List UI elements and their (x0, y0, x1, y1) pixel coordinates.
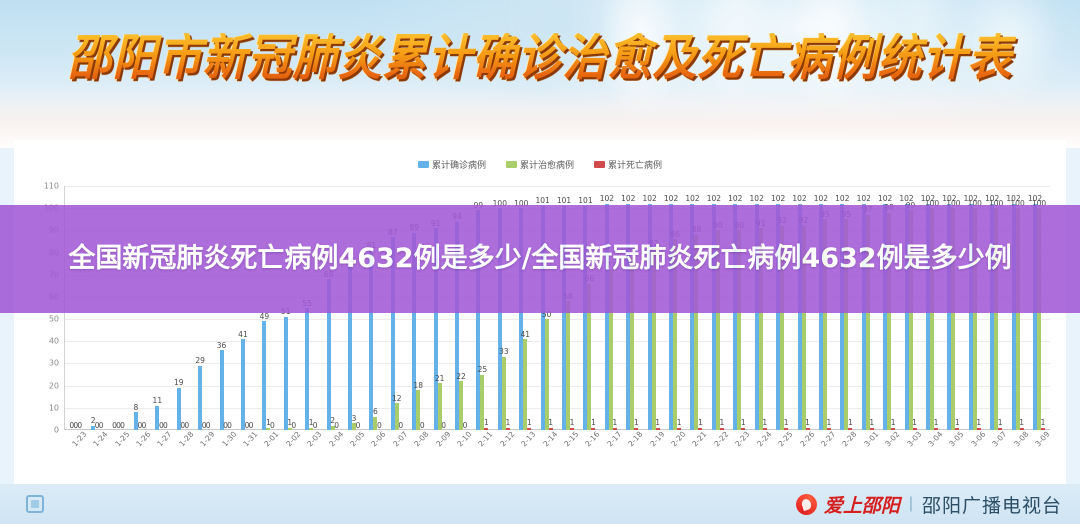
x-tick-label: 3-08 (1012, 430, 1030, 449)
x-tick-label: 2-20 (669, 430, 687, 449)
x-tick: 3-05 (943, 433, 964, 473)
bar-value-label: 0 (334, 422, 339, 430)
bar-value-label: 102 (835, 195, 849, 203)
x-tick: 1-29 (193, 433, 214, 473)
bar-value-label: 1 (848, 419, 853, 427)
bar-cured: 50 (545, 319, 549, 430)
x-tick: 2-12 (493, 433, 514, 473)
x-tick: 2-19 (643, 433, 664, 473)
bar-value-label: 0 (120, 422, 125, 430)
x-tick-label: 2-06 (370, 430, 388, 449)
bar-value-label: 1 (720, 419, 725, 427)
x-tick-label: 1-31 (241, 430, 259, 449)
bar-value-label: 19 (174, 379, 184, 387)
y-tick-label: 40 (49, 337, 59, 346)
bar-value-label: 1 (998, 419, 1003, 427)
bar-value-label: 1 (655, 419, 660, 427)
x-tick: 2-27 (814, 433, 835, 473)
bar-cured: 41 (523, 339, 527, 430)
bar-value-label: 0 (356, 422, 361, 430)
bar-value-label: 36 (217, 342, 227, 350)
x-tick: 3-07 (985, 433, 1006, 473)
bar-value-label: 102 (664, 195, 678, 203)
x-tick-label: 2-25 (776, 430, 794, 449)
bar-value-label: 1 (527, 419, 532, 427)
x-tick-label: 2-14 (541, 430, 559, 449)
legend-item-1: 累计治愈病例 (506, 158, 574, 171)
legend-item-0: 累计确诊病例 (418, 158, 486, 171)
legend-label: 累计确诊病例 (432, 158, 486, 171)
overlay-text: 全国新冠肺炎死亡病例4632例是多少/全国新冠肺炎死亡病例4632例是多少例 (60, 242, 1020, 277)
bar-value-label: 49 (260, 313, 270, 321)
chart-legend: 累计确诊病例累计治愈病例累计死亡病例 (14, 158, 1066, 171)
bar-value-label: 1 (591, 419, 596, 427)
brand-primary-label: 爱上邵阳 (824, 491, 900, 518)
bar-value-label: 1 (505, 419, 510, 427)
chart-card: 累计确诊病例累计治愈病例累计死亡病例 010203040506070809010… (14, 140, 1066, 488)
bar-value-label: 1 (891, 419, 896, 427)
x-axis: 1-231-241-251-261-271-281-291-301-312-01… (65, 433, 1050, 473)
bar-value-label: 102 (643, 195, 657, 203)
app-logo-icon (26, 495, 44, 513)
x-tick-label: 1-30 (220, 430, 238, 449)
bar-value-label: 102 (857, 195, 871, 203)
x-tick-label: 2-10 (455, 430, 473, 449)
x-tick: 1-24 (86, 433, 107, 473)
bar-value-label: 1 (955, 419, 960, 427)
bar-value-label: 1 (869, 419, 874, 427)
x-tick: 2-18 (622, 433, 643, 473)
bar-value-label: 0 (441, 422, 446, 430)
bar-value-label: 1 (677, 419, 682, 427)
bar-value-label: 21 (435, 375, 445, 383)
x-tick-label: 3-06 (969, 430, 987, 449)
x-tick: 2-20 (664, 433, 685, 473)
brand-separator: | (909, 495, 913, 513)
bar-value-label: 1 (741, 419, 746, 427)
bar-value-label: 0 (377, 422, 382, 430)
bar-value-label: 33 (499, 348, 509, 356)
bar-value-label: 102 (771, 195, 785, 203)
bar-value-label: 12 (392, 395, 402, 403)
header-banner: 邵阳市新冠肺炎累计确诊治愈及死亡病例统计表 (0, 0, 1080, 148)
bar-value-label: 1 (827, 419, 832, 427)
bar-value-label: 1 (698, 419, 703, 427)
x-tick: 2-02 (279, 433, 300, 473)
x-tick: 2-06 (365, 433, 386, 473)
x-tick: 2-15 (557, 433, 578, 473)
x-tick-label: 3-01 (862, 430, 880, 449)
legend-label: 累计死亡病例 (608, 158, 662, 171)
x-tick-label: 3-05 (948, 430, 966, 449)
x-tick: 2-21 (686, 433, 707, 473)
x-tick: 2-23 (729, 433, 750, 473)
bar-value-label: 102 (728, 195, 742, 203)
y-tick-label: 0 (54, 426, 59, 435)
legend-item-2: 累计死亡病例 (594, 158, 662, 171)
x-tick: 2-28 (836, 433, 857, 473)
y-tick-label: 110 (44, 182, 59, 191)
x-tick: 2-04 (322, 433, 343, 473)
bar-value-label: 102 (750, 195, 764, 203)
bar-value-label: 1 (784, 419, 789, 427)
bar-value-label: 18 (413, 382, 423, 390)
bar-value-label: 8 (134, 404, 139, 412)
bar-value-label: 101 (557, 197, 571, 205)
x-tick-label: 2-11 (477, 430, 495, 449)
x-tick-label: 2-23 (734, 430, 752, 449)
x-tick-label: 1-29 (198, 430, 216, 449)
x-tick: 1-26 (129, 433, 150, 473)
x-tick: 1-30 (215, 433, 236, 473)
bar-confirmed: 49 (262, 321, 266, 430)
broadcaster-brand: 爱上邵阳 | 邵阳广播电视台 (796, 491, 1062, 518)
x-tick: 2-11 (472, 433, 493, 473)
x-tick: 2-26 (793, 433, 814, 473)
x-tick: 3-06 (964, 433, 985, 473)
x-tick: 1-27 (151, 433, 172, 473)
bar-value-label: 101 (578, 197, 592, 205)
x-tick: 2-22 (707, 433, 728, 473)
bar-value-label: 1 (805, 419, 810, 427)
bar-value-label: 102 (878, 195, 892, 203)
x-tick: 3-09 (1028, 433, 1049, 473)
y-tick-label: 10 (49, 403, 59, 412)
x-tick-label: 1-28 (177, 430, 195, 449)
footer-bar: 爱上邵阳 | 邵阳广播电视台 (0, 484, 1080, 524)
bar-value-label: 6 (373, 408, 378, 416)
x-tick-label: 2-24 (755, 430, 773, 449)
legend-swatch-icon (506, 161, 517, 168)
bar-value-label: 1 (612, 419, 617, 427)
bar-value-label: 0 (163, 422, 168, 430)
bar-value-label: 0 (77, 422, 82, 430)
bar-value-label: 41 (238, 331, 248, 339)
x-tick-label: 2-03 (305, 430, 323, 449)
x-tick: 2-07 (386, 433, 407, 473)
bar-value-label: 0 (398, 422, 403, 430)
x-tick: 2-09 (429, 433, 450, 473)
bar-value-label: 102 (792, 195, 806, 203)
bar-value-label: 0 (291, 422, 296, 430)
x-tick-label: 2-17 (605, 430, 623, 449)
x-tick: 1-31 (236, 433, 257, 473)
x-tick: 2-16 (579, 433, 600, 473)
brand-secondary-label: 邵阳广播电视台 (922, 491, 1062, 518)
x-tick: 3-03 (900, 433, 921, 473)
x-tick: 2-03 (300, 433, 321, 473)
header-glow (0, 88, 1080, 148)
y-tick-label: 30 (49, 359, 59, 368)
x-tick-label: 2-04 (327, 430, 345, 449)
x-tick: 2-05 (343, 433, 364, 473)
bar-value-label: 102 (814, 195, 828, 203)
x-tick: 1-25 (108, 433, 129, 473)
bar-value-label: 0 (206, 422, 211, 430)
x-tick-label: 2-01 (263, 430, 281, 449)
bar-value-label: 102 (600, 195, 614, 203)
page-title: 邵阳市新冠肺炎累计确诊治愈及死亡病例统计表 (0, 33, 1080, 85)
bar-value-label: 1 (762, 419, 767, 427)
footer-left-logo (0, 484, 70, 524)
x-tick-label: 1-24 (91, 430, 109, 449)
bar-value-label: 0 (249, 422, 254, 430)
x-tick-label: 2-05 (348, 430, 366, 449)
x-tick-label: 2-26 (798, 430, 816, 449)
legend-label: 累计治愈病例 (520, 158, 574, 171)
x-tick: 3-08 (1007, 433, 1028, 473)
x-tick-label: 2-12 (498, 430, 516, 449)
bar-value-label: 1 (634, 419, 639, 427)
bar-value-label: 1 (548, 419, 553, 427)
x-tick-label: 3-09 (1033, 430, 1051, 449)
x-tick: 2-24 (750, 433, 771, 473)
bar-value-label: 102 (707, 195, 721, 203)
x-tick-label: 2-07 (391, 430, 409, 449)
bar-value-label: 0 (463, 422, 468, 430)
bar-value-label: 22 (456, 373, 466, 381)
bar-confirmed: 41 (241, 339, 245, 430)
x-tick-label: 2-02 (284, 430, 302, 449)
swirl-logo-icon (796, 494, 817, 515)
x-tick: 2-08 (408, 433, 429, 473)
bar-value-label: 1 (570, 419, 575, 427)
x-tick-label: 2-18 (627, 430, 645, 449)
bar-value-label: 102 (621, 195, 635, 203)
x-tick: 3-01 (857, 433, 878, 473)
x-tick: 2-25 (771, 433, 792, 473)
bar-value-label: 0 (227, 422, 232, 430)
bar-value-label: 1 (1019, 419, 1024, 427)
x-tick: 2-10 (450, 433, 471, 473)
bar-value-label: 0 (142, 422, 147, 430)
overlay-banner: 全国新冠肺炎死亡病例4632例是多少/全国新冠肺炎死亡病例4632例是多少例 (0, 205, 1080, 313)
bar-value-label: 101 (535, 197, 549, 205)
x-tick: 2-14 (536, 433, 557, 473)
bar-value-label: 1 (484, 419, 489, 427)
bar-cured: 58 (566, 301, 570, 430)
x-tick: 1-28 (172, 433, 193, 473)
bar-value-label: 0 (270, 422, 275, 430)
x-tick-label: 2-28 (841, 430, 859, 449)
x-tick: 1-23 (65, 433, 86, 473)
x-tick: 2-01 (258, 433, 279, 473)
legend-swatch-icon (594, 161, 605, 168)
infographic-page: 邵阳市新冠肺炎累计确诊治愈及死亡病例统计表 累计确诊病例累计治愈病例累计死亡病例… (0, 0, 1080, 524)
x-tick: 3-04 (921, 433, 942, 473)
x-tick: 3-02 (878, 433, 899, 473)
bar-value-label: 1 (912, 419, 917, 427)
x-tick-label: 1-27 (156, 430, 174, 449)
x-tick-label: 3-07 (990, 430, 1008, 449)
x-tick-label: 3-04 (926, 430, 944, 449)
bar-value-label: 41 (520, 331, 530, 339)
bar-value-label: 1 (976, 419, 981, 427)
x-tick-label: 3-02 (883, 430, 901, 449)
x-tick-label: 2-22 (712, 430, 730, 449)
y-tick-label: 50 (49, 315, 59, 324)
bar-value-label: 102 (685, 195, 699, 203)
x-tick-label: 2-09 (434, 430, 452, 449)
x-tick-label: 2-19 (648, 430, 666, 449)
bar-confirmed: 51 (284, 317, 288, 430)
x-tick-label: 2-21 (691, 430, 709, 449)
x-tick-label: 1-23 (70, 430, 88, 449)
x-tick-label: 3-03 (905, 430, 923, 449)
x-tick-label: 2-13 (520, 430, 538, 449)
bar-value-label: 0 (420, 422, 425, 430)
bar-value-label: 1 (1041, 419, 1046, 427)
x-tick-label: 1-25 (113, 430, 131, 449)
x-tick-label: 2-15 (562, 430, 580, 449)
x-tick-label: 2-16 (584, 430, 602, 449)
bar-value-label: 11 (153, 397, 163, 405)
bar-value-label: 0 (99, 422, 104, 430)
bar-confirmed: 36 (220, 350, 224, 430)
x-tick-label: 2-27 (819, 430, 837, 449)
x-tick-label: 2-08 (413, 430, 431, 449)
bar-value-label: 0 (313, 422, 318, 430)
x-tick: 2-17 (600, 433, 621, 473)
bar-value-label: 25 (478, 366, 488, 374)
y-tick-label: 20 (49, 381, 59, 390)
bar-value-label: 1 (934, 419, 939, 427)
bar-value-label: 29 (195, 357, 205, 365)
bar-value-label: 0 (184, 422, 189, 430)
x-tick-label: 1-26 (134, 430, 152, 449)
legend-swatch-icon (418, 161, 429, 168)
x-tick: 2-13 (515, 433, 536, 473)
bar-confirmed: 55 (305, 308, 309, 430)
